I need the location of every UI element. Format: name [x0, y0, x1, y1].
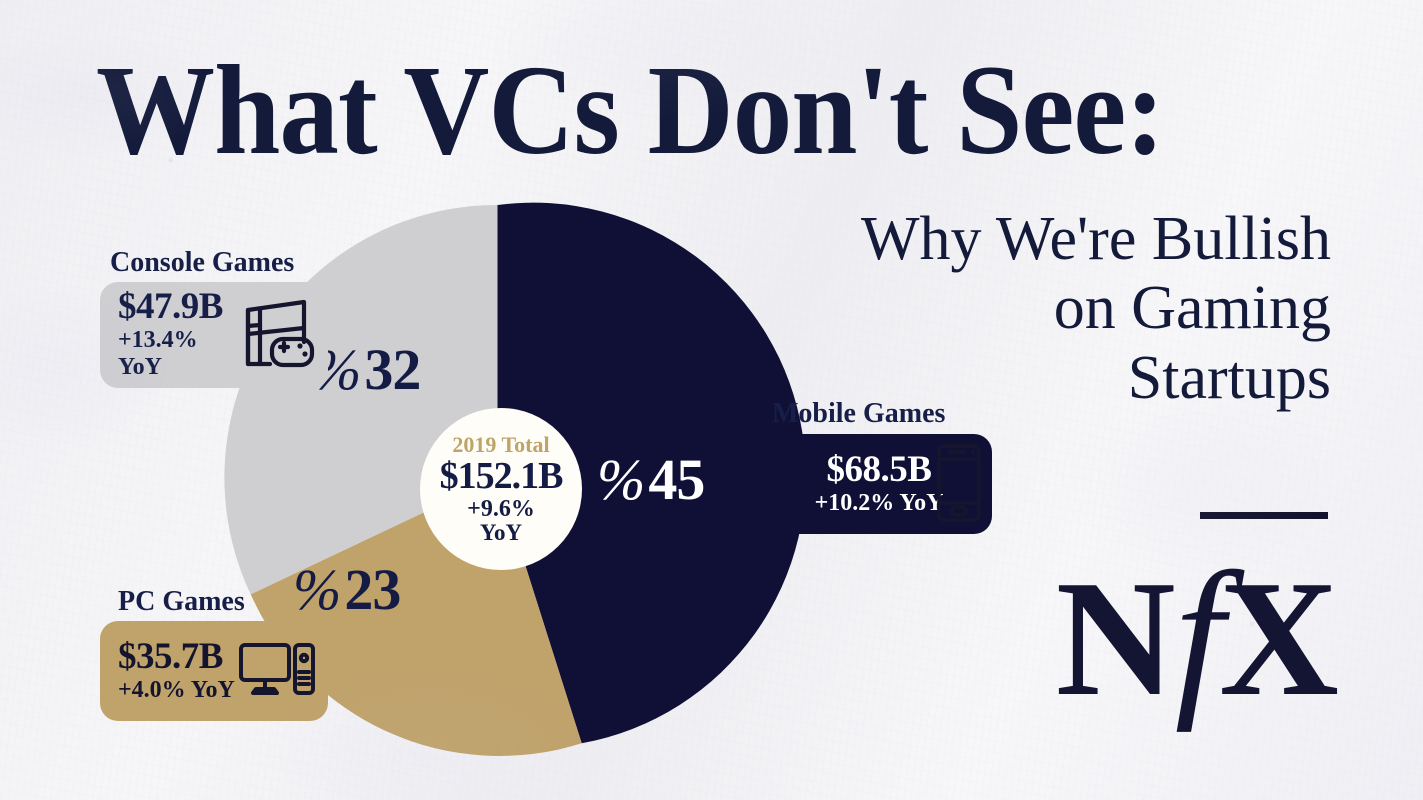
mobile-revenue: $68.5B [827, 451, 932, 490]
desktop-computer-icon [238, 640, 316, 702]
game-console-icon [240, 298, 316, 372]
pc-growth: +4.0% YoY [118, 677, 235, 705]
pie-label-pc: %23 [293, 556, 400, 623]
smartphone-icon [936, 443, 982, 528]
percent-symbol: % [597, 447, 648, 512]
percent-symbol: % [293, 557, 344, 622]
percent-value: 23 [344, 557, 400, 622]
console-growth: +13.4% YoY [118, 327, 240, 382]
infographic-canvas: What VCs Don't See: Why We're Bullish on… [0, 0, 1423, 800]
nfx-logo-x: X [1219, 546, 1337, 730]
nfx-logo-n: N [1056, 546, 1174, 730]
chart-center-total: 2019 Total $152.1B +9.6% YoY [420, 408, 582, 570]
callout-caption-console: Console Games [110, 247, 294, 279]
callout-figures-pc: $35.7B +4.0% YoY [118, 638, 235, 704]
percent-value: 32 [364, 337, 420, 402]
total-year-label: 2019 Total [452, 433, 549, 456]
callout-caption-mobile: Mobile Games [772, 398, 945, 430]
callout-card-console: $47.9B +13.4% YoY [100, 282, 328, 388]
console-revenue: $47.9B [118, 288, 240, 327]
callout-caption-pc: PC Games [118, 586, 245, 618]
page-title: What VCs Don't See: [96, 46, 1259, 174]
mobile-growth: +10.2% YoY [815, 490, 944, 518]
pie-label-console: %32 [313, 336, 420, 403]
total-value: $152.1B [440, 456, 563, 497]
callout-figures-console: $47.9B +13.4% YoY [118, 288, 240, 382]
pie-label-mobile: %45 [597, 446, 704, 513]
total-growth: +9.6% [467, 497, 535, 521]
total-growth-unit: YoY [480, 521, 522, 545]
callout-card-pc: $35.7B +4.0% YoY [100, 621, 328, 721]
nfx-logo-f: f [1174, 535, 1219, 733]
percent-value: 45 [648, 447, 704, 512]
brand-divider-rule [1200, 512, 1328, 519]
nfx-logo: NfX [1056, 545, 1337, 723]
pc-revenue: $35.7B [118, 638, 235, 677]
